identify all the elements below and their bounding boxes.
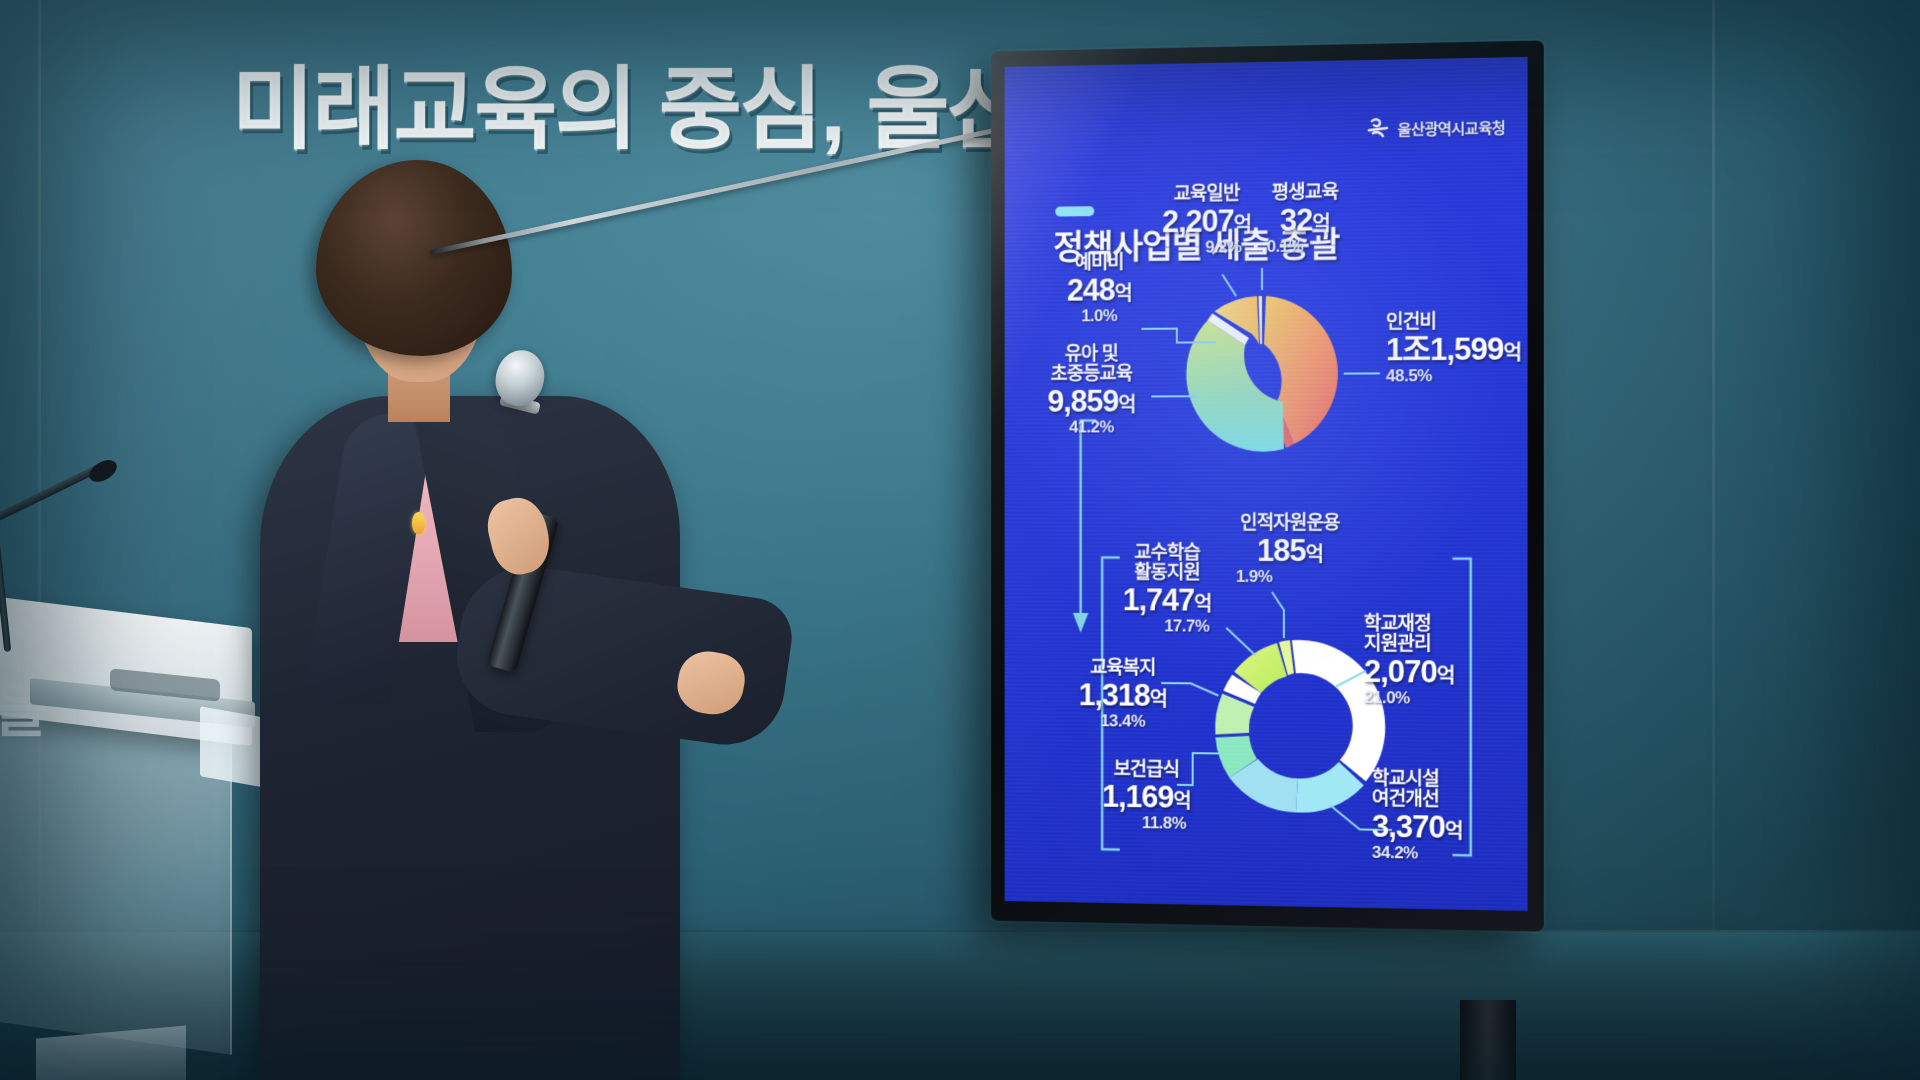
image-vignette — [0, 0, 1920, 1080]
screenshot-stage: 미래교육의 중심, 울산교 을 — [0, 0, 1920, 1080]
